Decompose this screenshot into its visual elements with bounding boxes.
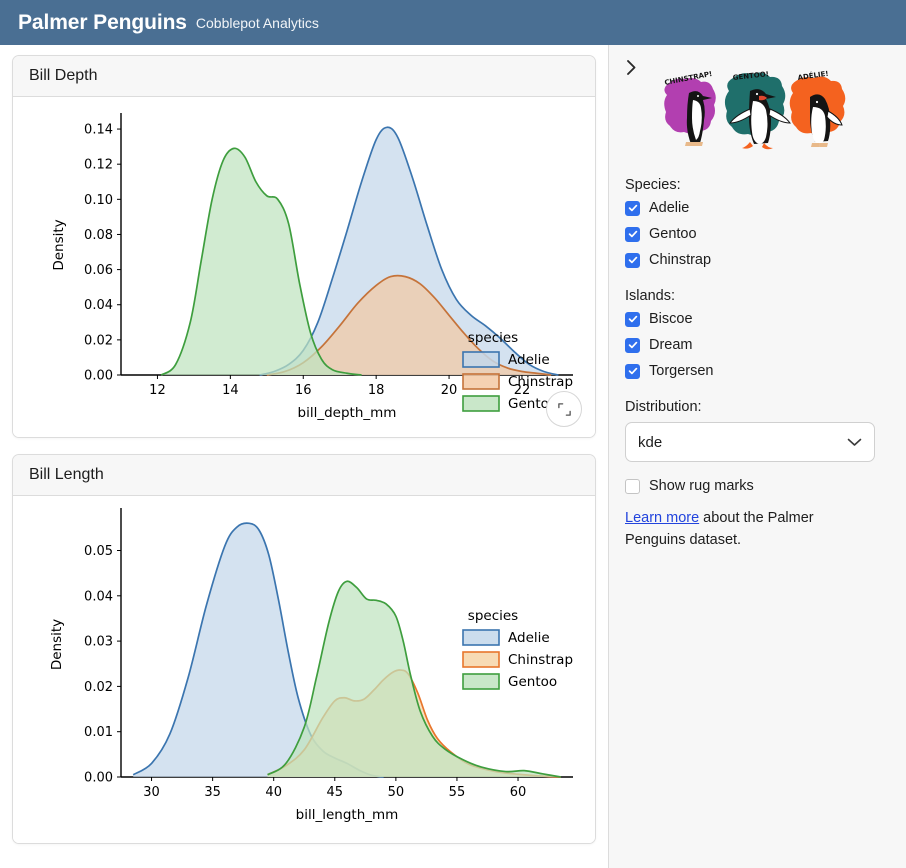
checkbox-island-biscoe[interactable]: Biscoe xyxy=(625,311,890,327)
learn-more-link[interactable]: Learn more xyxy=(625,510,699,526)
islands-group-label: Islands: xyxy=(625,288,890,304)
chart-bill-length[interactable]: 0.000.010.020.030.040.0530354045505560bi… xyxy=(13,496,595,843)
body-container: Bill Depth 0.000.020.040.060.080.100.120… xyxy=(0,45,906,868)
svg-text:0.00: 0.00 xyxy=(84,369,113,384)
svg-text:Adelie: Adelie xyxy=(508,630,550,646)
svg-text:Gentoo: Gentoo xyxy=(508,674,557,690)
sidebar: CHINSTRAP! GENTOO! ADÉLIE! xyxy=(608,45,906,868)
chevron-down-icon xyxy=(847,438,862,447)
main-content: Bill Depth 0.000.020.040.060.080.100.120… xyxy=(0,45,608,868)
svg-text:Chinstrap: Chinstrap xyxy=(508,652,573,668)
penguins-illustration: CHINSTRAP! GENTOO! ADÉLIE! xyxy=(655,69,855,157)
checkbox-icon-checked xyxy=(625,312,640,327)
distribution-select[interactable]: kde xyxy=(625,422,875,462)
svg-text:Density: Density xyxy=(51,219,67,270)
svg-text:Adelie: Adelie xyxy=(508,352,550,368)
svg-text:12: 12 xyxy=(149,383,166,398)
spacer xyxy=(625,389,890,399)
distribution-select-wrapper: kde xyxy=(625,422,890,462)
app-title: Palmer Penguins xyxy=(18,11,187,35)
dataset-note: Learn more about the Palmer Penguins dat… xyxy=(625,508,840,552)
svg-text:50: 50 xyxy=(388,785,405,800)
spacer xyxy=(625,278,890,288)
svg-text:30: 30 xyxy=(143,785,160,800)
penguins-illustration-svg: CHINSTRAP! GENTOO! ADÉLIE! xyxy=(655,69,855,157)
checkbox-species-gentoo[interactable]: Gentoo xyxy=(625,226,890,242)
checkbox-icon-checked xyxy=(625,253,640,268)
svg-text:0.06: 0.06 xyxy=(84,263,113,278)
checkbox-label: Show rug marks xyxy=(649,478,754,494)
svg-text:0.14: 0.14 xyxy=(84,123,113,138)
svg-text:55: 55 xyxy=(449,785,466,800)
expand-icon xyxy=(557,402,572,417)
svg-text:60: 60 xyxy=(510,785,527,800)
svg-text:Density: Density xyxy=(49,619,65,670)
svg-text:0.01: 0.01 xyxy=(84,725,113,740)
svg-text:0.02: 0.02 xyxy=(84,680,113,695)
svg-text:0.02: 0.02 xyxy=(84,333,113,348)
card-body-bill-depth: 0.000.020.040.060.080.100.120.1412141618… xyxy=(13,97,595,437)
checkbox-label: Adelie xyxy=(649,200,689,216)
svg-text:0.05: 0.05 xyxy=(84,544,113,559)
checkbox-label: Torgersen xyxy=(649,363,713,379)
checkbox-icon-unchecked xyxy=(625,479,640,494)
svg-text:Chinstrap: Chinstrap xyxy=(508,374,573,390)
svg-text:species: species xyxy=(468,608,518,624)
svg-text:45: 45 xyxy=(327,785,344,800)
svg-text:bill_length_mm: bill_length_mm xyxy=(296,807,399,823)
app-root: Palmer Penguins Cobblepot Analytics Bill… xyxy=(0,0,906,868)
checkbox-species-chinstrap[interactable]: Chinstrap xyxy=(625,252,890,268)
card-title-bill-length: Bill Length xyxy=(13,455,595,496)
card-bill-length: Bill Length 0.000.010.020.030.040.053035… xyxy=(12,454,596,844)
checkbox-label: Dream xyxy=(649,337,693,353)
species-group-label: Species: xyxy=(625,177,890,193)
checkbox-label: Chinstrap xyxy=(649,252,711,268)
checkbox-island-torgersen[interactable]: Torgersen xyxy=(625,363,890,379)
svg-text:0.00: 0.00 xyxy=(84,771,113,786)
card-title-bill-depth: Bill Depth xyxy=(13,56,595,97)
card-body-bill-length: 0.000.010.020.030.040.0530354045505560bi… xyxy=(13,496,595,843)
svg-text:0.03: 0.03 xyxy=(84,635,113,650)
svg-text:40: 40 xyxy=(265,785,282,800)
card-bill-depth: Bill Depth 0.000.020.040.060.080.100.120… xyxy=(12,55,596,438)
chart-bill-depth[interactable]: 0.000.020.040.060.080.100.120.1412141618… xyxy=(13,97,595,437)
svg-text:18: 18 xyxy=(368,383,385,398)
svg-text:0.04: 0.04 xyxy=(84,298,113,313)
app-header: Palmer Penguins Cobblepot Analytics xyxy=(0,0,906,45)
checkbox-icon-checked xyxy=(625,338,640,353)
checkbox-label: Gentoo xyxy=(649,226,697,242)
distribution-label: Distribution: xyxy=(625,399,890,415)
distribution-selected-value: kde xyxy=(638,434,662,451)
checkbox-icon-checked xyxy=(625,364,640,379)
svg-text:20: 20 xyxy=(441,383,458,398)
svg-text:0.12: 0.12 xyxy=(84,158,113,173)
svg-text:bill_depth_mm: bill_depth_mm xyxy=(298,405,397,421)
svg-text:14: 14 xyxy=(222,383,239,398)
sidebar-toggle-button[interactable] xyxy=(619,55,643,79)
svg-text:0.04: 0.04 xyxy=(84,589,113,604)
chevron-right-icon xyxy=(626,59,637,76)
checkbox-show-rug-marks[interactable]: Show rug marks xyxy=(625,478,890,494)
app-subtitle: Cobblepot Analytics xyxy=(196,15,319,31)
svg-text:0.10: 0.10 xyxy=(84,193,113,208)
checkbox-icon-checked xyxy=(625,227,640,242)
checkbox-island-dream[interactable]: Dream xyxy=(625,337,890,353)
checkbox-label: Biscoe xyxy=(649,311,693,327)
svg-text:species: species xyxy=(468,330,518,346)
svg-text:16: 16 xyxy=(295,383,312,398)
expand-chart-button-bill-depth[interactable] xyxy=(546,391,582,427)
svg-text:35: 35 xyxy=(204,785,221,800)
checkbox-icon-checked xyxy=(625,201,640,216)
checkbox-species-adelie[interactable]: Adelie xyxy=(625,200,890,216)
svg-text:0.08: 0.08 xyxy=(84,228,113,243)
